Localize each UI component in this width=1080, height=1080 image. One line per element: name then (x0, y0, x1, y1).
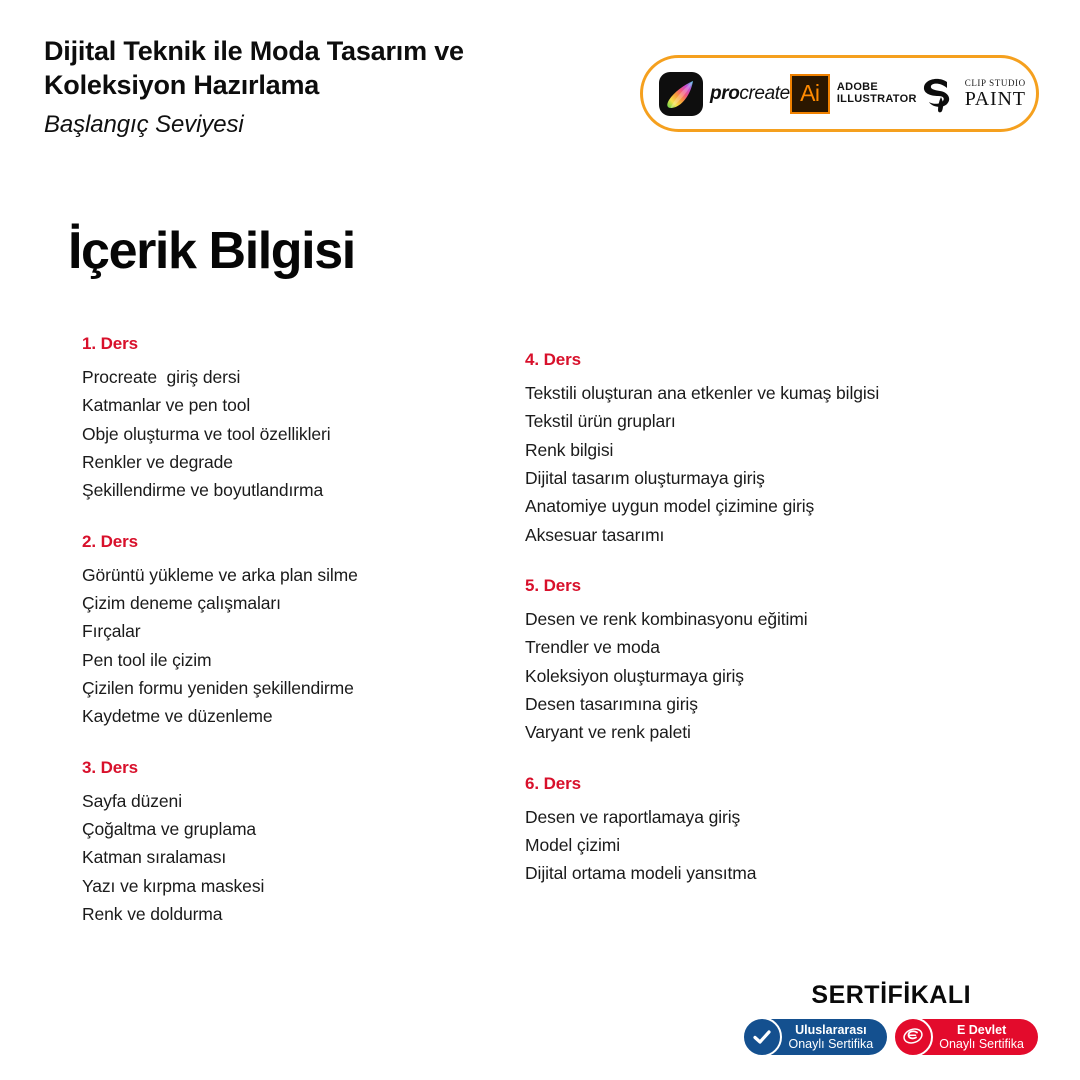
adobe-line-1: ADOBE (837, 82, 917, 94)
lesson-item: Dijital tasarım oluşturmaya giriş (525, 464, 1005, 492)
check-icon (742, 1017, 782, 1057)
adobe-illustrator-wordmark: ADOBE ILLUSTRATOR (837, 82, 917, 105)
badge-edevlet-certified: E Devlet Onaylı Sertifika (895, 1019, 1038, 1055)
lesson-item: Çizilen formu yeniden şekillendirme (82, 674, 502, 702)
lesson-item: Tekstil ürün grupları (525, 407, 1005, 435)
lesson-item: Procreate giriş dersi (82, 363, 502, 391)
software-item-illustrator: Ai ADOBE ILLUSTRATOR (790, 74, 917, 114)
lesson-item: Koleksiyon oluşturmaya giriş (525, 662, 1005, 690)
lesson-title: 5. Ders (525, 576, 1005, 596)
lesson-item: Desen tasarımına giriş (525, 690, 1005, 718)
course-title: Dijital Teknik ile Moda Tasarım ve Kolek… (44, 34, 604, 102)
lesson-item-list: Desen ve raportlamaya giriş Model çizimi… (525, 803, 1005, 888)
lesson-item-list: Tekstili oluşturan ana etkenler ve kumaş… (525, 379, 1005, 549)
lesson-item: Aksesuar tasarımı (525, 521, 1005, 549)
lesson-item: Katmanlar ve pen tool (82, 391, 502, 419)
lesson-item: Katman sıralaması (82, 843, 502, 871)
badge-line-1: E Devlet (939, 1023, 1024, 1037)
software-badge-pill: procreate Ai ADOBE ILLUSTRATOR CLIP STUD… (640, 55, 1039, 132)
lesson-item: Fırçalar (82, 617, 502, 645)
lesson-item: Obje oluşturma ve tool özellikleri (82, 420, 502, 448)
lesson-item: Görüntü yükleme ve arka plan silme (82, 561, 502, 589)
lesson-item: Varyant ve renk paleti (525, 718, 1005, 746)
lesson-item-list: Procreate giriş dersi Katmanlar ve pen t… (82, 363, 502, 505)
lesson-block: 3. Ders Sayfa düzeni Çoğaltma ve gruplam… (82, 758, 502, 929)
content-info-page: Dijital Teknik ile Moda Tasarım ve Kolek… (0, 0, 1080, 1080)
procreate-word-light: create (739, 83, 789, 104)
lesson-item: Yazı ve kırpma maskesi (82, 872, 502, 900)
lesson-item: Renk ve doldurma (82, 900, 502, 928)
adobe-line-2: ILLUSTRATOR (837, 94, 917, 106)
lesson-title: 2. Ders (82, 532, 502, 552)
badge-line-2: Onaylı Sertifika (788, 1037, 873, 1051)
lesson-item: Çoğaltma ve gruplama (82, 815, 502, 843)
lesson-block: 4. Ders Tekstili oluşturan ana etkenler … (525, 350, 1005, 549)
lesson-item: Kaydetme ve düzenleme (82, 702, 502, 730)
lesson-item: Sayfa düzeni (82, 787, 502, 815)
lesson-item: Renk bilgisi (525, 436, 1005, 464)
lesson-item: Renkler ve degrade (82, 448, 502, 476)
badge-line-2: Onaylı Sertifika (939, 1037, 1024, 1051)
software-item-clip-studio-paint: CLIP STUDIO PAINT (917, 73, 1026, 115)
badge-international-certified: Uluslararası Onaylı Sertifika (744, 1019, 887, 1055)
lesson-block: 6. Ders Desen ve raportlamaya giriş Mode… (525, 774, 1005, 888)
lesson-title: 1. Ders (82, 334, 502, 354)
header: Dijital Teknik ile Moda Tasarım ve Kolek… (44, 34, 604, 140)
lesson-item: Desen ve raportlamaya giriş (525, 803, 1005, 831)
lesson-item: Şekillendirme ve boyutlandırma (82, 476, 502, 504)
certification-title: SERTİFİKALI (744, 981, 1038, 1010)
e-devlet-icon (893, 1017, 933, 1057)
course-level: Başlangıç Seviyesi (44, 109, 604, 140)
lesson-title: 4. Ders (525, 350, 1005, 370)
lesson-title: 6. Ders (525, 774, 1005, 794)
lesson-block: 2. Ders Görüntü yükleme ve arka plan sil… (82, 532, 502, 731)
lesson-block: 5. Ders Desen ve renk kombinasyonu eğiti… (525, 576, 1005, 747)
procreate-wordmark: procreate (710, 84, 790, 103)
page-title: İçerik Bilgisi (68, 225, 355, 277)
lesson-item: Model çizimi (525, 831, 1005, 859)
lesson-item: Tekstili oluşturan ana etkenler ve kumaş… (525, 379, 1005, 407)
paint-line: PAINT (965, 89, 1026, 109)
lesson-item: Desen ve renk kombinasyonu eğitimi (525, 605, 1005, 633)
lesson-item: Çizim deneme çalışmaları (82, 589, 502, 617)
clip-studio-paint-wordmark: CLIP STUDIO PAINT (965, 79, 1026, 109)
procreate-word-bold: pro (710, 83, 739, 104)
badge-line-1: Uluslararası (788, 1023, 873, 1037)
lesson-column-left: 1. Ders Procreate giriş dersi Katmanlar … (82, 334, 502, 929)
lesson-item: Dijital ortama modeli yansıtma (525, 859, 1005, 887)
lesson-item: Pen tool ile çizim (82, 646, 502, 674)
certification-badges: Uluslararası Onaylı Sertifika E Devlet O… (744, 1019, 1038, 1055)
procreate-icon (659, 72, 703, 116)
adobe-illustrator-icon: Ai (790, 74, 830, 114)
lesson-column-right: 4. Ders Tekstili oluşturan ana etkenler … (525, 350, 1005, 888)
lesson-title: 3. Ders (82, 758, 502, 778)
lesson-block: 1. Ders Procreate giriş dersi Katmanlar … (82, 334, 502, 505)
badge-text: E Devlet Onaylı Sertifika (939, 1023, 1024, 1051)
ai-mark: Ai (800, 82, 819, 105)
lesson-item-list: Görüntü yükleme ve arka plan silme Çizim… (82, 561, 502, 731)
lesson-item: Trendler ve moda (525, 633, 1005, 661)
badge-text: Uluslararası Onaylı Sertifika (788, 1023, 873, 1051)
lesson-item-list: Sayfa düzeni Çoğaltma ve gruplama Katman… (82, 787, 502, 929)
certification-section: SERTİFİKALI Uluslararası Onaylı Sertifik… (744, 981, 1038, 1055)
lesson-item: Anatomiye uygun model çizimine giriş (525, 492, 1005, 520)
lesson-item-list: Desen ve renk kombinasyonu eğitimi Trend… (525, 605, 1005, 747)
software-item-procreate: procreate (659, 72, 790, 116)
clip-studio-paint-icon (917, 73, 959, 115)
clip-studio-line: CLIP STUDIO (965, 79, 1026, 88)
